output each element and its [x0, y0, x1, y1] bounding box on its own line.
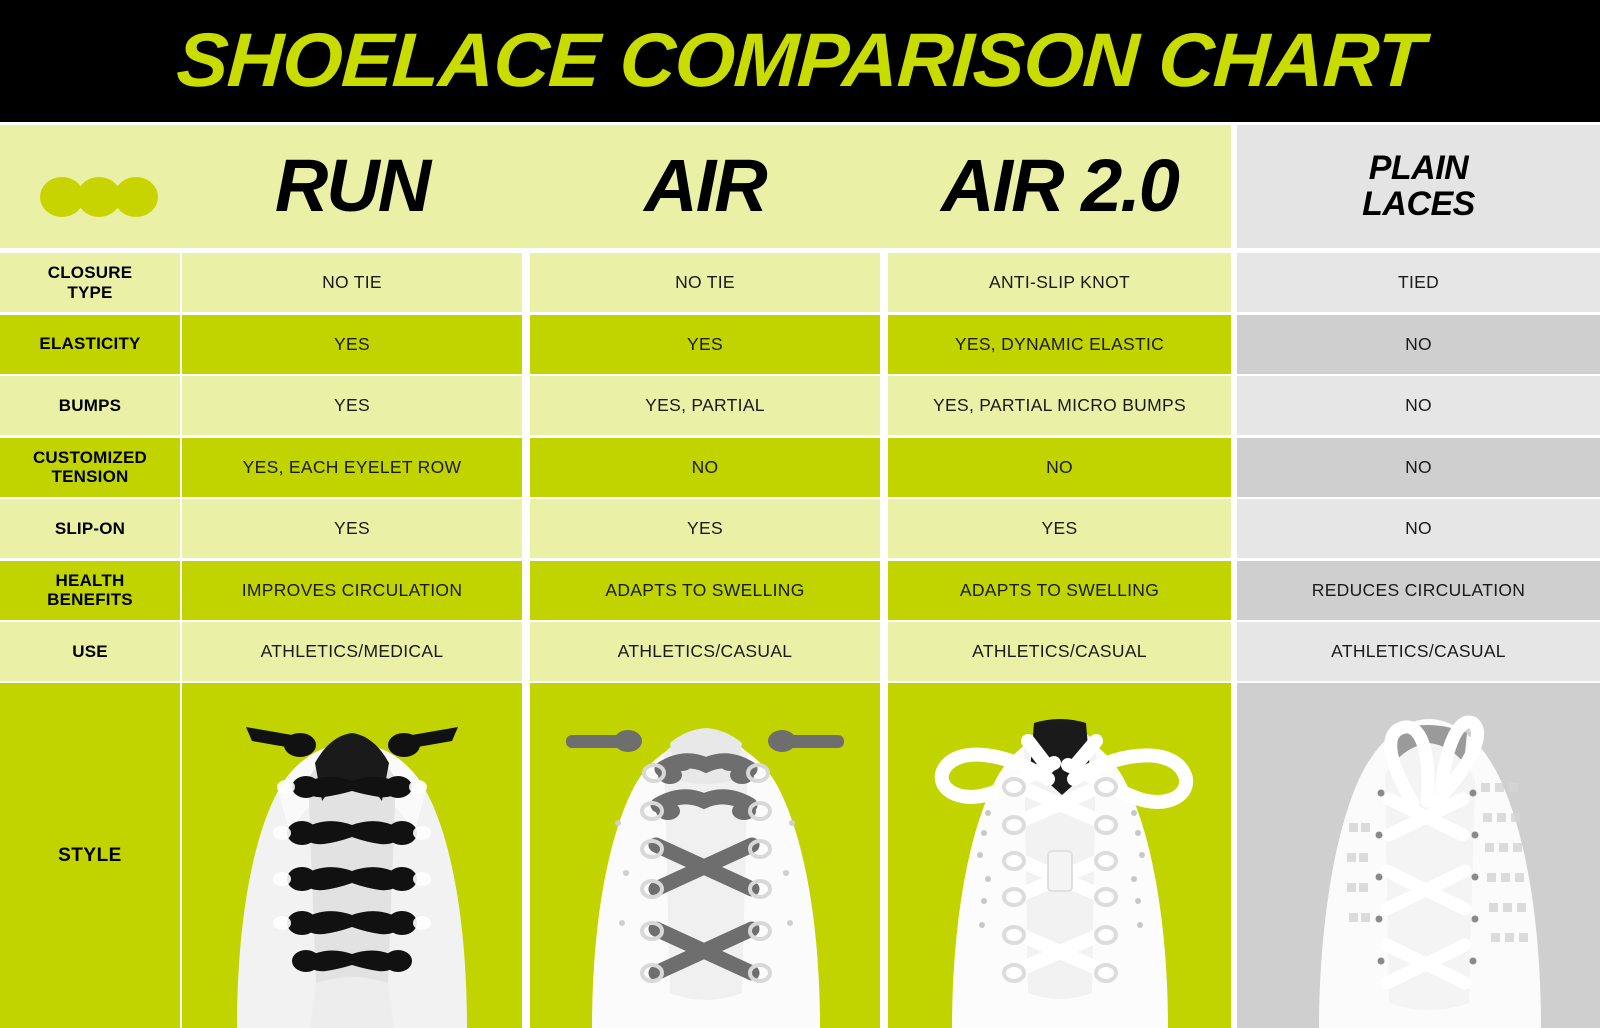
- row-label-line2: TYPE: [67, 283, 112, 302]
- row-label-slip-on: SLIP-ON: [0, 499, 180, 558]
- row-label-line2: BENEFITS: [47, 590, 133, 609]
- running-shoe-black-laces-icon: [182, 683, 522, 1028]
- column-header-plain-laces: PLAIN LACES: [1237, 125, 1600, 248]
- cell-air-health: ADAPTS TO SWELLING: [530, 561, 880, 620]
- cell-air-customized: NO: [530, 438, 880, 497]
- cell-run-closure: NO TIE: [182, 253, 522, 312]
- cell-air-use: ATHLETICS/CASUAL: [530, 622, 880, 681]
- cell-run-slip-on: YES: [182, 499, 522, 558]
- cell-air2-bumps: YES, PARTIAL MICRO BUMPS: [888, 376, 1231, 435]
- cell-plain-slip-on: NO: [1237, 499, 1600, 558]
- cell-air2-customized: NO: [888, 438, 1231, 497]
- row-label-style: STYLE: [0, 683, 180, 1028]
- column-header-air2: AIR 2.0: [888, 125, 1231, 248]
- row-label-line1: ELASTICITY: [39, 334, 140, 353]
- cell-air-elasticity: YES: [530, 315, 880, 374]
- row-label-health: HEALTHBENEFITS: [0, 561, 180, 620]
- cell-air2-slip-on: YES: [888, 499, 1231, 558]
- row-label-elasticity: ELASTICITY: [0, 315, 180, 374]
- logo-dot-3: [114, 177, 158, 217]
- leather-sneaker-gray-laces-icon: [530, 683, 880, 1028]
- style-image-air: [530, 683, 880, 1028]
- cell-air2-closure: ANTI-SLIP KNOT: [888, 253, 1231, 312]
- cell-run-bumps: YES: [182, 376, 522, 435]
- cell-air2-health: ADAPTS TO SWELLING: [888, 561, 1231, 620]
- row-label-line1: HEALTH: [56, 571, 125, 590]
- column-header-plain-line2: LACES: [1362, 187, 1475, 223]
- row-label-line2: TENSION: [52, 467, 129, 486]
- cell-run-customized: YES, EACH EYELET ROW: [182, 438, 522, 497]
- row-label-bumps: BUMPS: [0, 376, 180, 435]
- cell-air2-use: ATHLETICS/CASUAL: [888, 622, 1231, 681]
- row-label-line1: CUSTOMIZED: [33, 448, 147, 467]
- row-label-line1: USE: [72, 642, 108, 661]
- row-label-use: USE: [0, 622, 180, 681]
- row-label-line1: SLIP-ON: [55, 519, 125, 538]
- row-label-line1: BUMPS: [59, 396, 121, 415]
- column-header-run: RUN: [182, 125, 522, 248]
- mesh-sneaker-plain-white-laces-icon: [1237, 683, 1600, 1028]
- column-header-plain-line1: PLAIN: [1362, 151, 1475, 187]
- cell-run-elasticity: YES: [182, 315, 522, 374]
- column-header-air: AIR: [530, 125, 880, 248]
- style-image-plain: [1237, 683, 1600, 1028]
- cell-plain-customized: NO: [1237, 438, 1600, 497]
- row-label-customized: CUSTOMIZEDTENSION: [0, 438, 180, 497]
- row-label-closure: CLOSURETYPE: [0, 253, 180, 312]
- leather-sneaker-white-bow-laces-icon: [888, 683, 1231, 1028]
- comparison-table: RUN AIR AIR 2.0 PLAIN LACES CLOSURETYPEN…: [0, 122, 1600, 1028]
- cell-plain-elasticity: NO: [1237, 315, 1600, 374]
- three-dots-logo: [40, 177, 158, 217]
- cell-plain-closure: TIED: [1237, 253, 1600, 312]
- style-image-run: [182, 683, 522, 1028]
- style-image-air2: [888, 683, 1231, 1028]
- page-title: SHOELACE COMPARISON CHART: [175, 23, 1426, 99]
- cell-run-use: ATHLETICS/MEDICAL: [182, 622, 522, 681]
- cell-plain-use: ATHLETICS/CASUAL: [1237, 622, 1600, 681]
- cell-air2-elasticity: YES, DYNAMIC ELASTIC: [888, 315, 1231, 374]
- cell-air-slip-on: YES: [530, 499, 880, 558]
- cell-air-closure: NO TIE: [530, 253, 880, 312]
- title-bar: SHOELACE COMPARISON CHART: [0, 0, 1600, 122]
- row-label-line1: CLOSURE: [48, 263, 133, 282]
- cell-run-health: IMPROVES CIRCULATION: [182, 561, 522, 620]
- cell-air-bumps: YES, PARTIAL: [530, 376, 880, 435]
- cell-plain-bumps: NO: [1237, 376, 1600, 435]
- cell-plain-health: REDUCES CIRCULATION: [1237, 561, 1600, 620]
